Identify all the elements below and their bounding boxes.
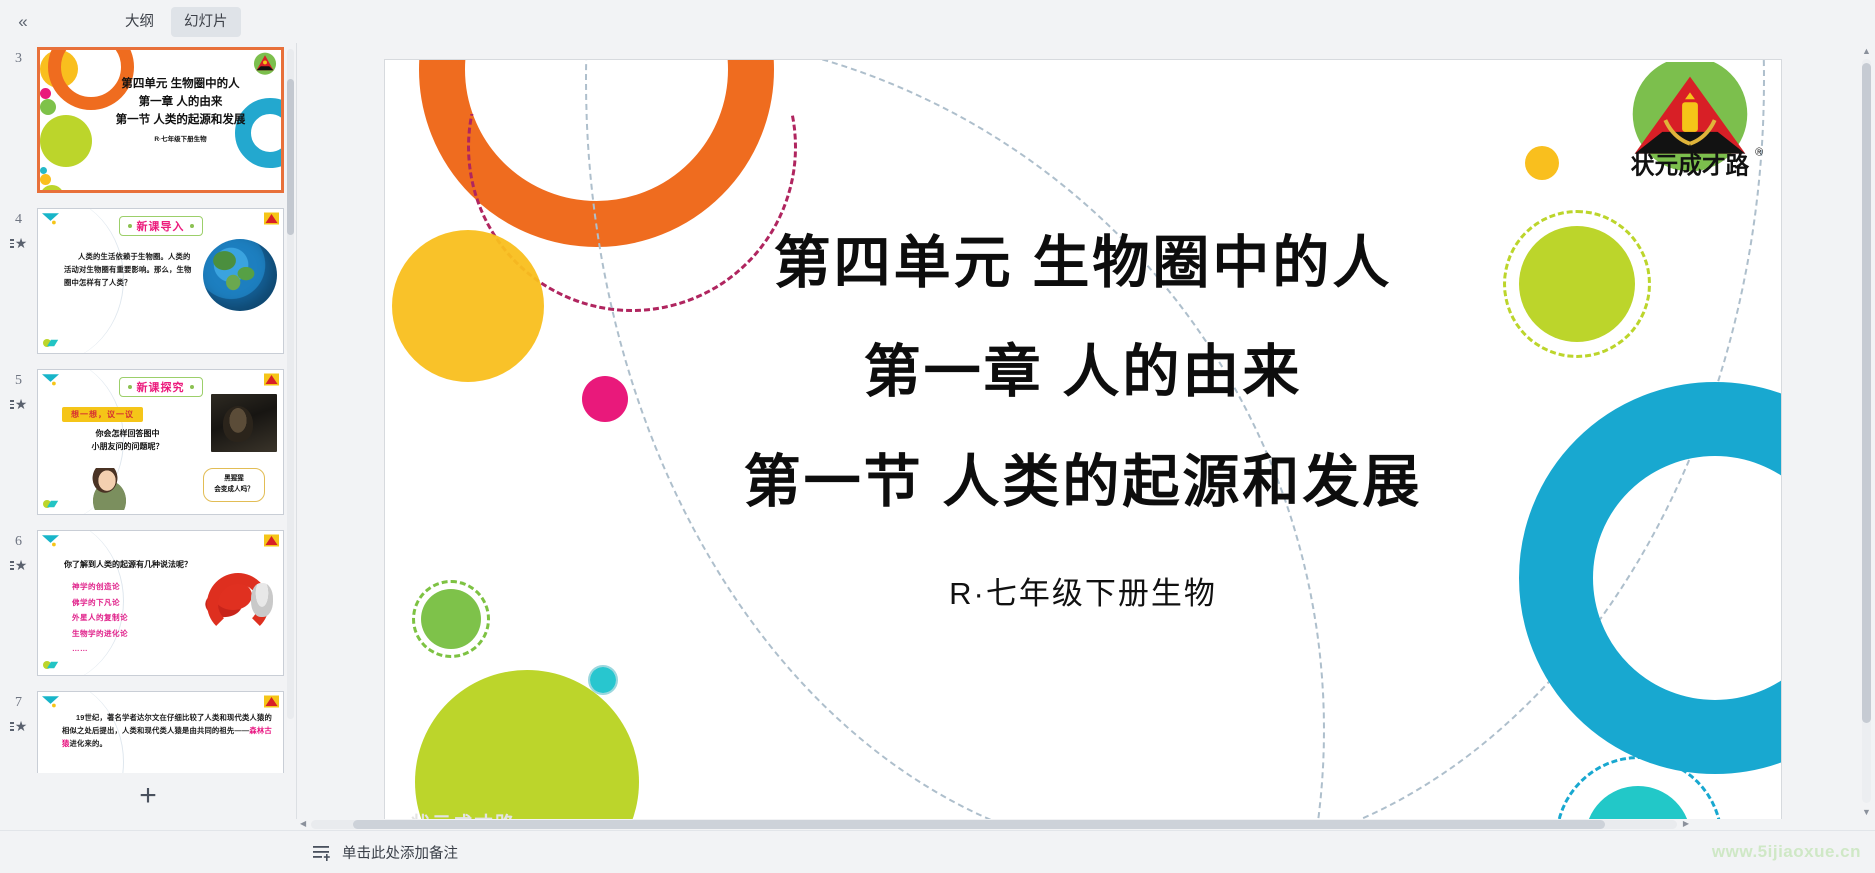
thumbnail-gutter-5: 5 ★	[0, 369, 37, 411]
slide-subtitle: R·七年级下册生物	[385, 568, 1781, 613]
slide-thumbnails-list: 3	[0, 43, 296, 773]
slide-title-line3: 第一节 人类的起源和发展	[385, 447, 1781, 518]
slide-number-5: 5	[15, 373, 22, 388]
question-mark-art	[201, 567, 277, 629]
earth-photo	[203, 239, 277, 311]
thumbnail-gutter-7: 7 ★	[0, 691, 37, 733]
mini-body-4: 人类的生活依赖于生物圈。人类的活动对生物圈有重要影响。那么，生物圈中怎样有了人类…	[64, 251, 197, 289]
mini-title-line3: 第一节 人类的起源和发展	[92, 112, 269, 130]
deco-lime-circle	[40, 115, 92, 167]
list-item: 外星人的复制论	[72, 610, 128, 626]
notes-placeholder[interactable]: 单击此处添加备注	[342, 842, 458, 863]
mini-body-5: 你会怎样回答图中 小朋友问的问题呢？	[58, 428, 197, 454]
animation-star-icon-4: ★	[10, 236, 28, 250]
horizontal-scrollbar-row: ◀ ▶	[0, 819, 1875, 830]
mini-tag-5: 想一想，议一议	[62, 407, 143, 422]
thumbnail-slide-3[interactable]: 3	[0, 47, 296, 193]
deco-yellow-small-circle	[1525, 146, 1559, 180]
tab-outline-label: 大纲	[125, 14, 154, 30]
mini-tag-wrap-5: 想一想，议一议	[62, 404, 143, 422]
thumbnail-frame-6[interactable]: 你了解到人类的起源有几种说法呢？ 神学的创造论 佛学的下凡论 外星人的复制论 生…	[37, 530, 284, 676]
pill-dot-left	[128, 224, 132, 228]
animation-star-icon-6: ★	[10, 558, 28, 572]
thumbnails-scrollbar[interactable]	[287, 49, 294, 719]
list-item: ……	[72, 641, 128, 657]
brand-badge-icon	[264, 212, 279, 225]
mini-slide-5: 新课探究 想一想，议一议 你会怎样回答图中 小朋友问的问题呢？	[38, 370, 283, 514]
scroll-left-arrow-icon[interactable]: ◀	[300, 819, 306, 828]
mini-slide-3: 第四单元 生物圈中的人 第一章 人的由来 第一节 人类的起源和发展 R·七年级下…	[40, 50, 281, 190]
slide-number-6: 6	[15, 534, 22, 549]
brand-badge-icon	[264, 695, 279, 708]
bubble-line1: 黑猩猩	[224, 474, 244, 485]
scroll-right-arrow-icon[interactable]: ▶	[1683, 819, 1689, 828]
thumbnail-frame-7[interactable]: 19世纪，著名学者达尔文在仔细比较了人类和现代类人猿的相似之处后提出，人类和现代…	[37, 691, 284, 773]
scrollbar-thumb[interactable]	[353, 820, 1605, 829]
mini-slide-6: 你了解到人类的起源有几种说法呢？ 神学的创造论 佛学的下凡论 外星人的复制论 生…	[38, 531, 283, 675]
deco-lime-dot	[40, 185, 64, 190]
collapse-panel-button[interactable]: «	[6, 5, 40, 39]
mini-question-line1: 你会怎样回答图中	[58, 428, 197, 441]
corner-decoration-icon	[42, 213, 59, 227]
mini-paragraph-4: 人类的生活依赖于生物圈。人类的活动对生物圈有重要影响。那么，生物圈中怎样有了人类…	[64, 251, 197, 289]
view-tab-group: 大纲 幻灯片	[112, 7, 241, 37]
girl-illustration	[82, 468, 132, 510]
add-slide-button[interactable]: +	[131, 779, 165, 813]
thumbnail-frame-5[interactable]: 新课探究 想一想，议一议 你会怎样回答图中 小朋友问的问题呢？	[37, 369, 284, 515]
ppt-editor-window: « 大纲 幻灯片 3	[0, 0, 1875, 873]
list-item: 生物学的进化论	[72, 626, 128, 642]
animation-star-icon-7: ★	[10, 719, 28, 733]
thumbnail-frame-4[interactable]: 新课导入 人类的生活依赖于生物圈。人类的活动对生物圈有重要影响。那么，生物圈中怎…	[37, 208, 284, 354]
collapse-icon: «	[18, 12, 27, 32]
tab-slides[interactable]: 幻灯片	[171, 7, 241, 37]
thumbnail-frame-3[interactable]: 第四单元 生物圈中的人 第一章 人的由来 第一节 人类的起源和发展 R·七年级下…	[37, 47, 284, 193]
corner-decoration-icon	[42, 374, 59, 388]
mini-question-line2: 小朋友问的问题呢？	[58, 441, 197, 454]
scrollbar-thumb[interactable]	[1862, 63, 1871, 723]
mini-subtitle: R·七年级下册生物	[92, 133, 269, 143]
slide-editing-stage: 状元成才路 ® 状元成才路 第四单元 生物圈中的人 第一章 人的由来 第一节 人…	[297, 43, 1875, 819]
paragraph-part2: 进化来的。	[70, 739, 107, 748]
chimpanzee-photo	[211, 394, 277, 452]
thumbnail-gutter-6: 6 ★	[0, 530, 37, 572]
brand-badge-icon	[264, 534, 279, 547]
mini-body-7: 19世纪，著名学者达尔文在仔细比较了人类和现代类人猿的相似之处后提出，人类和现代…	[62, 712, 275, 750]
mini-list-6: 神学的创造论 佛学的下凡论 外星人的复制论 生物学的进化论 ……	[72, 579, 128, 657]
pill-dot-right	[190, 224, 194, 228]
stage-horizontal-scrollbar[interactable]	[311, 820, 1677, 829]
corner-decoration-bottom-icon	[43, 338, 59, 348]
animation-star-icon-5: ★	[10, 397, 28, 411]
pill-dot-right	[190, 385, 194, 389]
mini-header-pill-5: 新课探究	[119, 377, 203, 397]
paragraph-part1: 19世纪，著名学者达尔文在仔细比较了人类和现代类人猿的相似之处后提出，人类和现代…	[62, 713, 272, 735]
list-item: 佛学的下凡论	[72, 595, 128, 611]
thumbnail-slide-4[interactable]: 4 ★	[0, 208, 296, 354]
thumbnail-gutter-3: 3	[0, 47, 37, 66]
mini-paragraph-7: 19世纪，著名学者达尔文在仔细比较了人类和现代类人猿的相似之处后提出，人类和现代…	[62, 712, 275, 750]
add-slide-area: +	[0, 773, 296, 819]
mini-slide-7: 19世纪，著名学者达尔文在仔细比较了人类和现代类人猿的相似之处后提出，人类和现代…	[38, 692, 283, 773]
brand-logo-icon	[252, 52, 278, 78]
brand-logo-text: 状元成才路	[1631, 151, 1750, 179]
mini-title-line2: 第一章 人的由来	[92, 94, 269, 112]
deco-green-dot	[40, 99, 56, 115]
mini-slide-4: 新课导入 人类的生活依赖于生物圈。人类的活动对生物圈有重要影响。那么，生物圈中怎…	[38, 209, 283, 353]
scroll-up-arrow-icon[interactable]: ▲	[1861, 45, 1872, 56]
brand-badge-icon	[264, 373, 279, 386]
pill-dot-left	[128, 385, 132, 389]
bubble-line2: 会变成人吗？	[214, 485, 254, 496]
deco-pink-dot	[40, 88, 51, 99]
deco-cyan-circle	[590, 667, 616, 693]
corner-decoration-bottom-icon	[43, 660, 59, 670]
stage-vertical-scrollbar[interactable]	[1862, 59, 1871, 803]
mini-title-line1: 第四单元 生物圈中的人	[92, 76, 269, 94]
corner-decoration-icon	[42, 696, 59, 710]
corner-decoration-icon	[42, 535, 59, 549]
slide-title-block[interactable]: 第四单元 生物圈中的人 第一章 人的由来 第一节 人类的起源和发展 R·七年级下…	[385, 228, 1781, 613]
corner-decoration-bottom-icon	[43, 499, 59, 509]
slide-thumbnails-panel: 3	[0, 43, 297, 819]
tab-slides-label: 幻灯片	[184, 14, 228, 30]
deco-yellow-dot	[40, 174, 51, 185]
notes-bar: 单击此处添加备注 www.5ijiaoxue.cn	[0, 830, 1875, 873]
mini-header-5: 新课探究	[137, 379, 185, 395]
slide-number-7: 7	[15, 695, 22, 710]
slide-number-3: 3	[15, 51, 22, 66]
add-notes-icon[interactable]	[311, 841, 333, 863]
slide-canvas[interactable]: 状元成才路 ® 状元成才路 第四单元 生物圈中的人 第一章 人的由来 第一节 人…	[385, 60, 1781, 868]
speech-bubble: 黑猩猩 会变成人吗？	[203, 468, 265, 502]
mini-header-4: 新课导入	[137, 218, 185, 234]
main-area: 3	[0, 43, 1875, 819]
tab-outline[interactable]: 大纲	[112, 7, 167, 37]
brand-logo-icon: 状元成才路 ®	[1611, 62, 1769, 182]
list-item: 神学的创造论	[72, 579, 128, 595]
slide-title-line1: 第四单元 生物圈中的人	[385, 228, 1781, 299]
brand-registered-mark: ®	[1755, 147, 1763, 159]
slide-title-line2: 第一章 人的由来	[385, 337, 1781, 408]
deco-cyan-dot	[40, 167, 47, 174]
thumbnail-gutter-4: 4 ★	[0, 208, 37, 250]
top-bar: « 大纲 幻灯片	[0, 0, 1875, 43]
mini-slide-3-text: 第四单元 生物圈中的人 第一章 人的由来 第一节 人类的起源和发展 R·七年级下…	[92, 76, 269, 143]
slide-number-4: 4	[15, 212, 22, 227]
mini-header-pill-4: 新课导入	[119, 216, 203, 236]
scroll-down-arrow-icon[interactable]: ▼	[1861, 806, 1872, 817]
scrollbar-thumb[interactable]	[287, 79, 294, 235]
thumbnail-slide-5[interactable]: 5 ★	[0, 369, 296, 515]
thumbnail-slide-6[interactable]: 6 ★	[0, 530, 296, 676]
site-watermark: www.5ijiaoxue.cn	[1712, 842, 1861, 862]
thumbnail-slide-7[interactable]: 7 ★	[0, 691, 296, 773]
